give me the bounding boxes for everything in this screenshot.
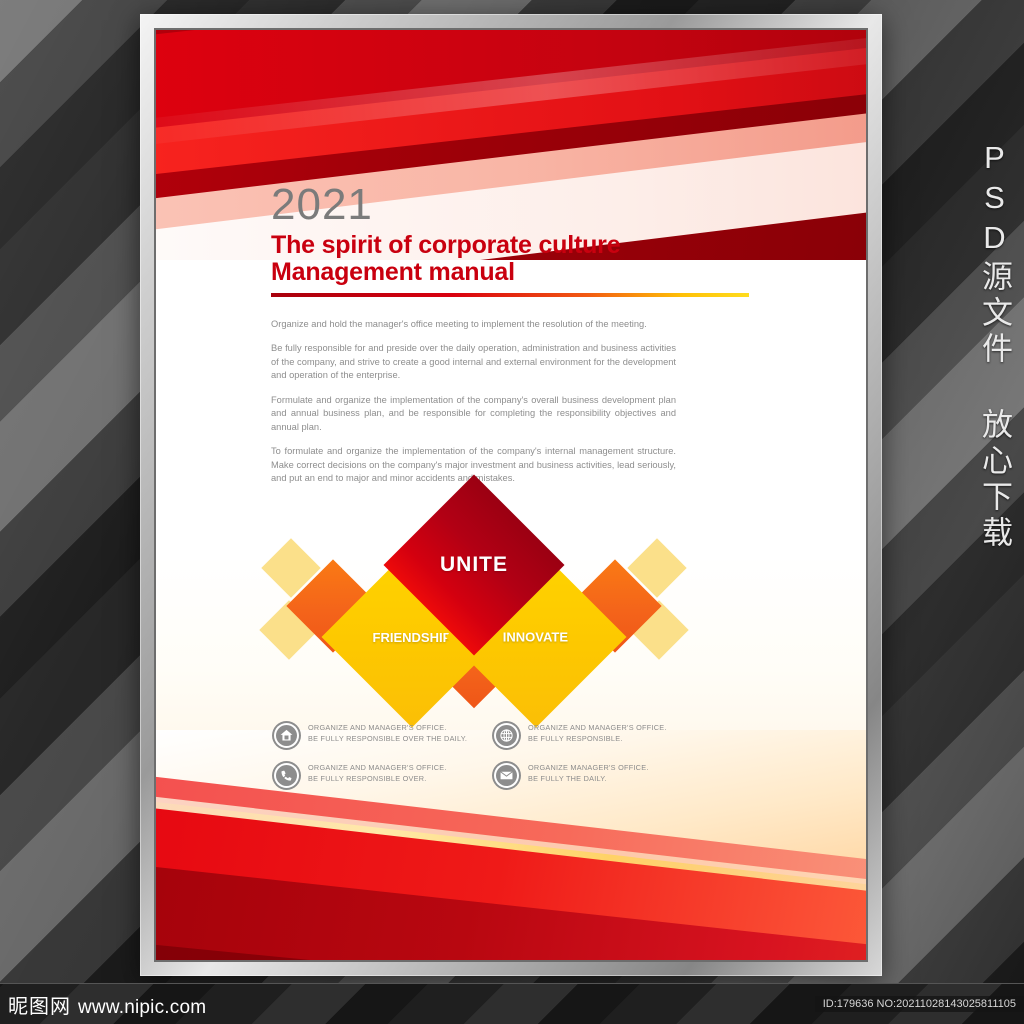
- contact-line-2: BE FULLY RESPONSIBLE OVER THE DAILY.: [308, 733, 467, 744]
- body-paragraphs: Organize and hold the manager's office m…: [271, 318, 676, 497]
- contact-text: ORGANIZE AND MANAGER'S OFFICE. BE FULLY …: [308, 722, 467, 745]
- globe-icon: [494, 723, 519, 748]
- contact-item-phone[interactable]: ORGANIZE AND MANAGER'S OFFICE. BE FULLY …: [274, 762, 494, 788]
- unite-label: UNITE: [440, 553, 508, 577]
- contact-line-1: ORGANIZE AND MANAGER'S OFFICE.: [528, 722, 667, 733]
- side-vertical-label: PSD源文件 放心下载: [948, 140, 1010, 552]
- innovate-label: INNOVATE: [503, 630, 568, 645]
- frame-inner: 2021 The spirit of corporate culture Man…: [154, 28, 868, 962]
- poster-canvas: 2021 The spirit of corporate culture Man…: [156, 30, 866, 960]
- friendship-label: FRIENDSHIP: [373, 629, 452, 644]
- diamond-emblem: FRIENDSHIP INNOVATE UNITE: [264, 485, 684, 735]
- watermark-brand-cn: 昵图网: [8, 990, 71, 1019]
- contact-row: ORGANIZE AND MANAGER'S OFFICE. BE FULLY …: [274, 762, 714, 788]
- contact-list: ORGANIZE AND MANAGER'S OFFICE. BE FULLY …: [274, 722, 714, 802]
- contact-item-home[interactable]: ORGANIZE AND MANAGER'S OFFICE. BE FULLY …: [274, 722, 494, 748]
- watermark-brand[interactable]: 昵图网 www.nipic.com: [0, 990, 206, 1019]
- contact-text: ORGANIZE AND MANAGER'S OFFICE. BE FULLY …: [308, 762, 447, 785]
- home-icon: [274, 723, 299, 748]
- paragraph: Formulate and organize the implementatio…: [271, 394, 676, 434]
- screenshot-root: PSD源文件 放心下载: [0, 0, 1024, 1024]
- contact-line-2: BE FULLY RESPONSIBLE.: [528, 733, 667, 744]
- contact-text: ORGANIZE MANAGER'S OFFICE. BE FULLY THE …: [528, 762, 649, 785]
- contact-line-2: BE FULLY THE DAILY.: [528, 773, 649, 784]
- watermark-id: ID:179636 NO:20211028143025811105: [815, 996, 1024, 1012]
- contact-line-2: BE FULLY RESPONSIBLE OVER.: [308, 773, 447, 784]
- contact-item-email[interactable]: ORGANIZE MANAGER'S OFFICE. BE FULLY THE …: [494, 762, 714, 788]
- watermark-url[interactable]: www.nipic.com: [78, 997, 206, 1019]
- picture-frame: 2021 The spirit of corporate culture Man…: [140, 14, 882, 976]
- phone-icon: [274, 763, 299, 788]
- contact-line-1: ORGANIZE AND MANAGER'S OFFICE.: [308, 762, 447, 773]
- paragraph: Organize and hold the manager's office m…: [271, 318, 676, 331]
- contact-row: ORGANIZE AND MANAGER'S OFFICE. BE FULLY …: [274, 722, 714, 748]
- poster-title-line1: The spirit of corporate culture: [271, 231, 620, 260]
- contact-line-1: ORGANIZE AND MANAGER'S OFFICE.: [308, 722, 467, 733]
- poster-title-line2: Management manual: [271, 258, 515, 287]
- contact-item-globe[interactable]: ORGANIZE AND MANAGER'S OFFICE. BE FULLY …: [494, 722, 714, 748]
- watermark-bar: 昵图网 www.nipic.com ID:179636 NO:202110281…: [0, 983, 1024, 1024]
- poster-year: 2021: [271, 180, 373, 230]
- envelope-icon: [494, 763, 519, 788]
- poster-content: 2021 The spirit of corporate culture Man…: [156, 30, 866, 960]
- title-gradient-rule: [271, 293, 749, 297]
- paragraph: Be fully responsible for and preside ove…: [271, 342, 676, 382]
- contact-text: ORGANIZE AND MANAGER'S OFFICE. BE FULLY …: [528, 722, 667, 745]
- contact-line-1: ORGANIZE MANAGER'S OFFICE.: [528, 762, 649, 773]
